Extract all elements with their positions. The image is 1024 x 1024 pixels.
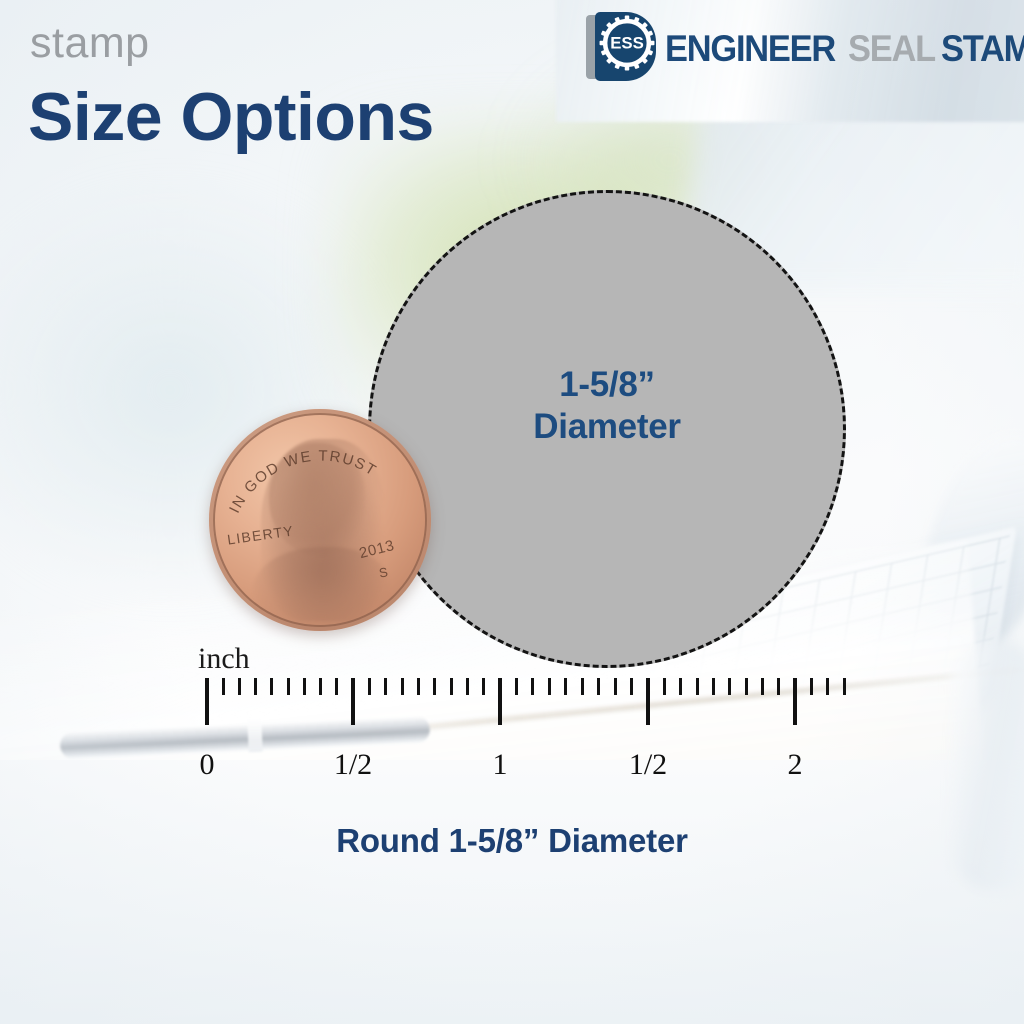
ruler: inch 01/211/22 (0, 0, 1024, 1024)
ruler-tick-minor (531, 678, 534, 695)
ruler-tick-minor (810, 678, 813, 695)
ruler-tick-label: 1/2 (334, 748, 372, 782)
ruler-tick-minor (417, 678, 420, 695)
ruler-tick-minor (270, 678, 273, 695)
ruler-tick-minor (826, 678, 829, 695)
ruler-tick-minor (401, 678, 404, 695)
ruler-tick-minor (303, 678, 306, 695)
ruler-tick-minor (581, 678, 584, 695)
ruler-tick-minor (564, 678, 567, 695)
ruler-tick-minor (482, 678, 485, 695)
ruler-tick-minor (696, 678, 699, 695)
ruler-tick-minor (254, 678, 257, 695)
ruler-tick-major (351, 678, 355, 725)
ruler-tick-minor (222, 678, 225, 695)
ruler-tick-minor (319, 678, 322, 695)
ruler-tick-label: 2 (788, 748, 803, 782)
ruler-tick-label: 1 (493, 748, 508, 782)
ruler-tick-minor (287, 678, 290, 695)
ruler-tick-minor (384, 678, 387, 695)
ruler-tick-minor (450, 678, 453, 695)
ruler-tick-minor (335, 678, 338, 695)
ruler-tick-minor (515, 678, 518, 695)
ruler-unit-label: inch (198, 642, 250, 676)
ruler-tick-major (646, 678, 650, 725)
ruler-tick-major (205, 678, 209, 725)
ruler-tick-minor (761, 678, 764, 695)
ruler-tick-minor (728, 678, 731, 695)
ruler-tick-label: 0 (200, 748, 215, 782)
ruler-tick-minor (679, 678, 682, 695)
ruler-tick-minor (368, 678, 371, 695)
ruler-tick-minor (777, 678, 780, 695)
ruler-tick-minor (238, 678, 241, 695)
ruler-tick-major (498, 678, 502, 725)
stamp-caption: Round 1-5/8” Diameter (0, 822, 1024, 860)
ruler-tick-minor (597, 678, 600, 695)
ruler-tick-minor (745, 678, 748, 695)
ruler-tick-minor (663, 678, 666, 695)
stamp-size-options-page: stamp Size Options (0, 0, 1024, 1024)
ruler-tick-label: 1/2 (629, 748, 667, 782)
ruler-tick-minor (548, 678, 551, 695)
ruler-tick-minor (466, 678, 469, 695)
ruler-tick-major (793, 678, 797, 725)
ruler-tick-minor (433, 678, 436, 695)
ruler-tick-minor (843, 678, 846, 695)
ruler-tick-minor (630, 678, 633, 695)
ruler-tick-minor (712, 678, 715, 695)
ruler-tick-minor (614, 678, 617, 695)
